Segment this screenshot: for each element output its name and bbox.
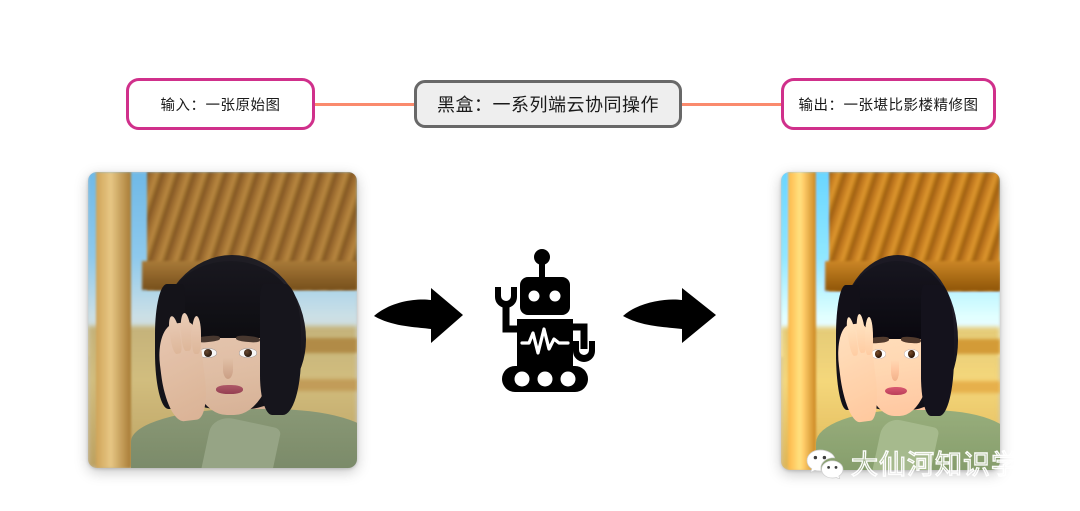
- photo-before-scene: [88, 172, 357, 468]
- photo-after[interactable]: [781, 172, 1000, 470]
- lips: [216, 385, 243, 394]
- portrait-subject: [781, 172, 1000, 470]
- node-blackbox-label: 黑盒：一系列端云协同操作: [437, 91, 659, 117]
- connector-blackbox-to-output: [680, 103, 783, 106]
- iris-left: [204, 349, 212, 357]
- finger-3: [865, 317, 873, 356]
- iris-right: [244, 349, 252, 357]
- arrow-before-to-robot: [373, 286, 465, 348]
- finger-3: [192, 316, 202, 354]
- node-output-label: 输出：一张堪比影楼精修图: [799, 94, 979, 115]
- iris-right: [908, 350, 915, 358]
- node-blackbox[interactable]: 黑盒：一系列端云协同操作: [414, 80, 682, 128]
- iris-left: [875, 350, 882, 358]
- node-input[interactable]: 输入：一张原始图: [126, 78, 315, 130]
- node-input-label: 输入：一张原始图: [161, 94, 281, 115]
- photo-before[interactable]: [88, 172, 357, 468]
- arrow-robot-to-after: [622, 286, 718, 348]
- connector-input-to-blackbox: [313, 103, 416, 106]
- node-output[interactable]: 输出：一张堪比影楼精修图: [781, 78, 996, 130]
- photo-after-scene: [781, 172, 1000, 470]
- hair-side-right: [260, 284, 300, 414]
- robot-icon: [484, 249, 606, 394]
- portrait-subject: [88, 172, 357, 468]
- nose: [891, 360, 900, 381]
- flow-row: 输入：一张原始图 黑盒：一系列端云协同操作 输出：一张堪比影楼精修图: [0, 72, 1080, 134]
- diagram-canvas: 输入：一张原始图 黑盒：一系列端云协同操作 输出：一张堪比影楼精修图: [0, 0, 1080, 511]
- hair-side-right: [921, 285, 954, 416]
